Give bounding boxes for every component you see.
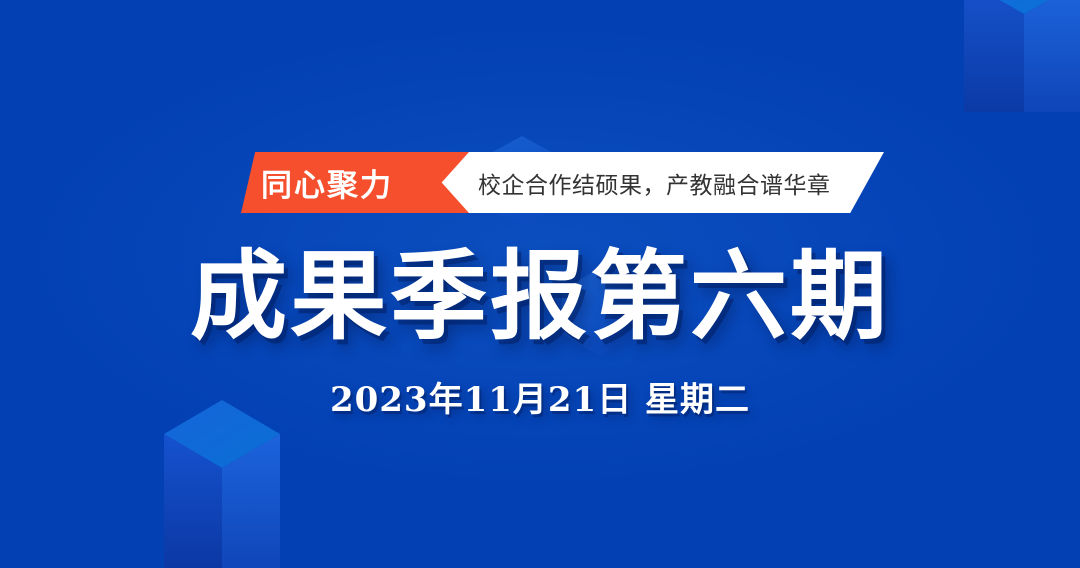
cube-bottom-left-icon — [163, 398, 281, 568]
poster-canvas: 校企合作结硕果，产教融合谱华章 同心聚力 成果季报第六期 2023年11月21日… — [0, 0, 1080, 568]
banner-slogan-text: 同心聚力 — [261, 160, 393, 205]
banner-subtitle-text: 校企合作结硕果，产教融合谱华章 — [478, 166, 831, 200]
publication-date: 2023年11月21日 星期二 — [0, 372, 1080, 421]
cube-top-right-icon — [963, 0, 1080, 112]
page-title: 成果季报第六期 — [0, 246, 1080, 348]
banner-slogan-tag: 同心聚力 — [241, 152, 469, 213]
banner-subtitle-plate: 校企合作结硕果，产教融合谱华章 — [434, 152, 884, 213]
banner: 校企合作结硕果，产教融合谱华章 同心聚力 — [0, 152, 1080, 213]
